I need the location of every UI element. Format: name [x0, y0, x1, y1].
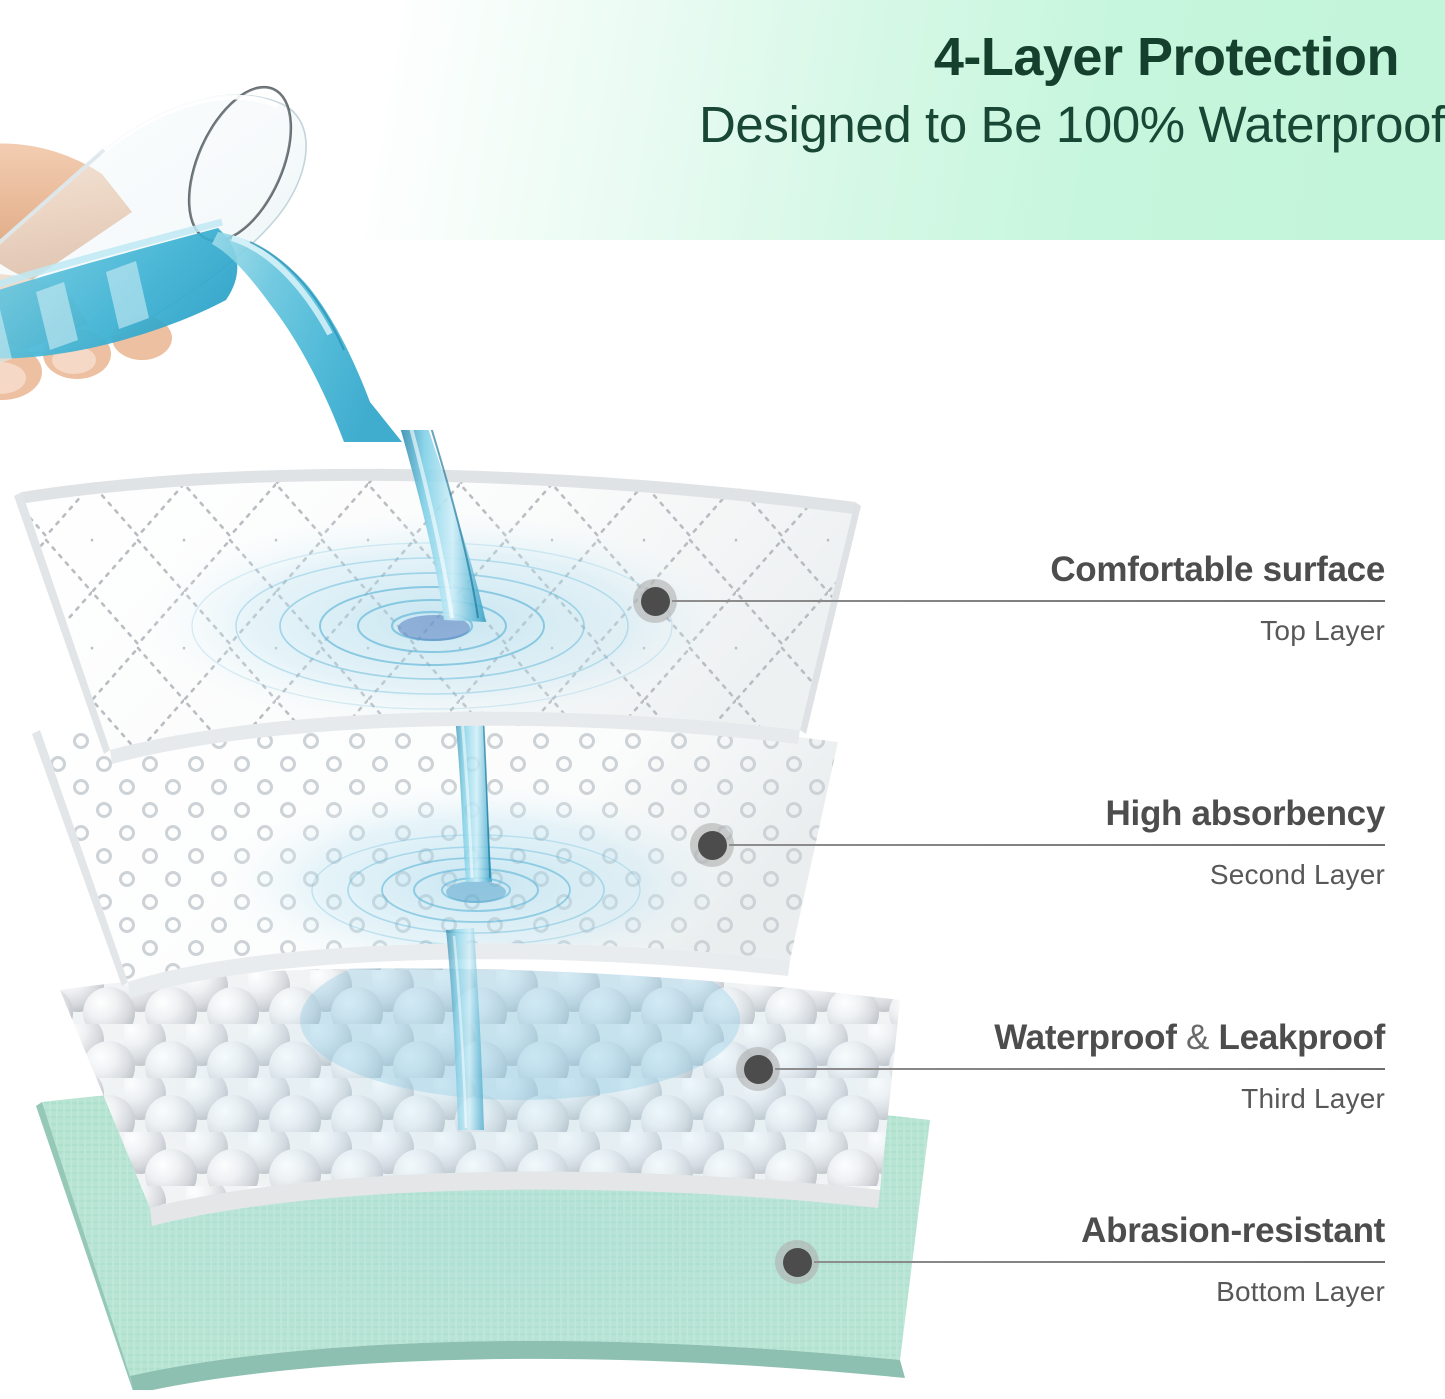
marker-dot-bottom-layer[interactable]	[775, 1240, 819, 1284]
callout-bottom-layer[interactable]: Abrasion-resistant Bottom Layer	[0, 0, 1445, 1399]
callout-title-bottom-layer: Abrasion-resistant	[1081, 1213, 1385, 1248]
leader-line-bottom-layer	[814, 1261, 1385, 1263]
infographic-canvas: 4-Layer Protection Designed to Be 100% W…	[0, 0, 1445, 1399]
callout-sublabel-bottom-layer: Bottom Layer	[1216, 1278, 1385, 1306]
